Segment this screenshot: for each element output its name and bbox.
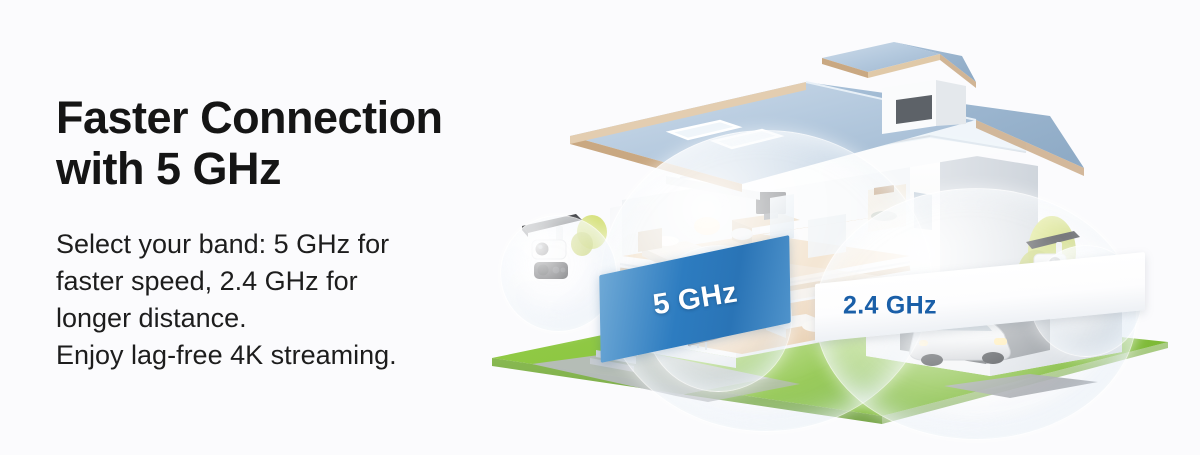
body-text: Select your band: 5 GHz for faster speed…	[56, 194, 486, 374]
promo-banner: Faster Connection with 5 GHz Select your…	[0, 0, 1200, 455]
band-24ghz-label: 2.4 GHz	[843, 291, 937, 320]
house-illustration: 5 GHz 2.4 GHz	[470, 20, 1190, 435]
house	[470, 20, 1190, 420]
copy-block: Faster Connection with 5 GHz Select your…	[56, 92, 486, 374]
page-title: Faster Connection with 5 GHz	[56, 92, 486, 194]
band-5ghz-label: 5 GHz	[650, 276, 739, 322]
